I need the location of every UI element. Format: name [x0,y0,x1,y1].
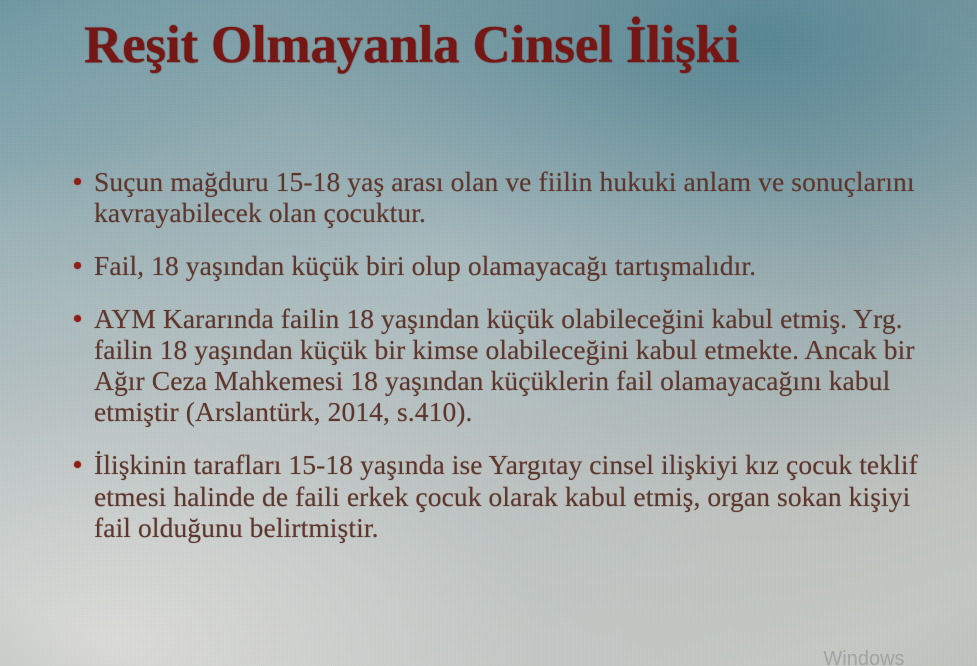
bullet-text: AYM Kararında failin 18 yaşından küçük o… [94,303,954,427]
bullet-item: Fail, 18 yaşından küçük biri olup olamay… [74,250,954,281]
bullet-text: Suçun mağduru 15-18 yaş arası olan ve fi… [94,166,954,228]
bullet-item: AYM Kararında failin 18 yaşından küçük o… [74,303,954,427]
bullet-dot-icon [74,178,81,185]
slide-content: Reşit Olmayanla Cinsel İlişki Suçun mağd… [0,0,977,666]
bullet-item: Suçun mağduru 15-18 yaş arası olan ve fi… [74,166,954,228]
slide-bullet-list: Suçun mağduru 15-18 yaş arası olan ve fi… [74,166,954,565]
bullet-item: İlişkinin tarafları 15-18 yaşında ise Ya… [74,449,954,542]
bullet-dot-icon [74,315,81,322]
bullet-text: İlişkinin tarafları 15-18 yaşında ise Ya… [94,449,954,542]
bullet-dot-icon [74,461,81,468]
bullet-dot-icon [74,262,81,269]
slide-title: Reşit Olmayanla Cinsel İlişki [84,18,884,72]
projected-slide-photo: Reşit Olmayanla Cinsel İlişki Suçun mağd… [0,0,977,666]
bullet-text: Fail, 18 yaşından küçük biri olup olamay… [94,250,954,281]
